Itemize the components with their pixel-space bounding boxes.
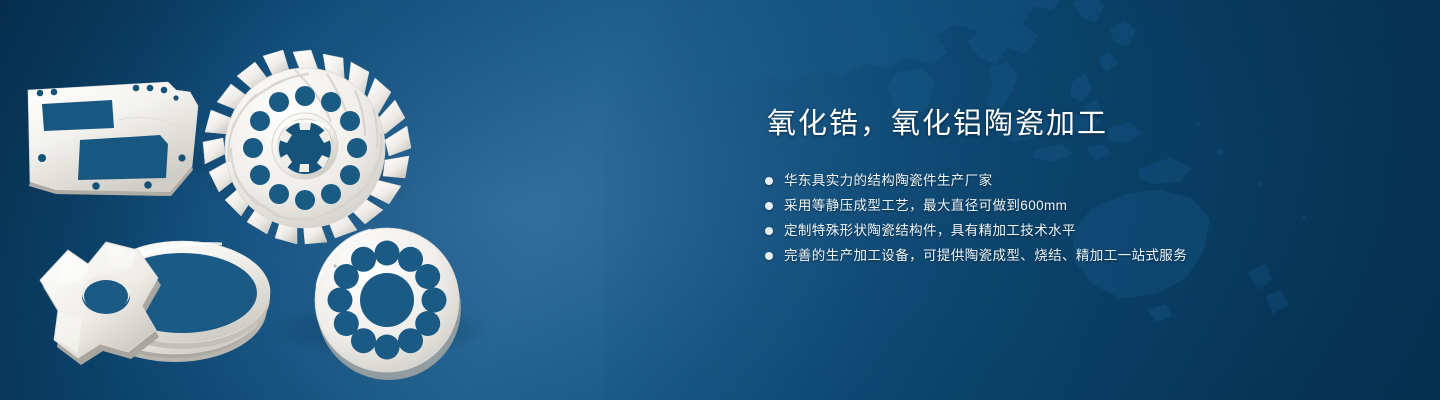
product-banner: 氧化锆，氧化铝陶瓷加工 华东具实力的结构陶瓷件生产厂家 采用等静压成型工艺，最大… (0, 0, 1440, 400)
list-item-label: 完善的生产加工设备，可提供陶瓷成型、烧结、精加工一站式服务 (784, 243, 1187, 268)
feature-list: 华东具实力的结构陶瓷件生产厂家 采用等静压成型工艺，最大直径可做到600mm 定… (765, 168, 1385, 268)
banner-text-column: 氧化锆，氧化铝陶瓷加工 华东具实力的结构陶瓷件生产厂家 采用等静压成型工艺，最大… (765, 104, 1385, 268)
ceramic-perforated-ring-shape (315, 228, 461, 380)
bullet-dot-icon (765, 252, 773, 260)
ceramic-products-image (0, 0, 760, 400)
list-item: 华东具实力的结构陶瓷件生产厂家 (765, 168, 1385, 193)
list-item-label: 华东具实力的结构陶瓷件生产厂家 (784, 168, 993, 193)
list-item-label: 采用等静压成型工艺，最大直径可做到600mm (784, 193, 1067, 218)
list-item: 定制特殊形状陶瓷结构件，具有精加工技术水平 (765, 218, 1385, 243)
ceramic-cross-plate-shape (40, 242, 161, 365)
page-title: 氧化锆，氧化铝陶瓷加工 (767, 104, 1385, 144)
list-item-label: 定制特殊形状陶瓷结构件，具有精加工技术水平 (784, 218, 1076, 243)
list-item: 完善的生产加工设备，可提供陶瓷成型、烧结、精加工一站式服务 (765, 243, 1385, 268)
ceramic-impeller-disc-shape (203, 50, 411, 244)
bullet-dot-icon (765, 227, 773, 235)
ceramic-mounting-plate-shape (28, 82, 198, 196)
bullet-dot-icon (765, 202, 773, 210)
bullet-dot-icon (765, 177, 773, 185)
list-item: 采用等静压成型工艺，最大直径可做到600mm (765, 193, 1385, 218)
